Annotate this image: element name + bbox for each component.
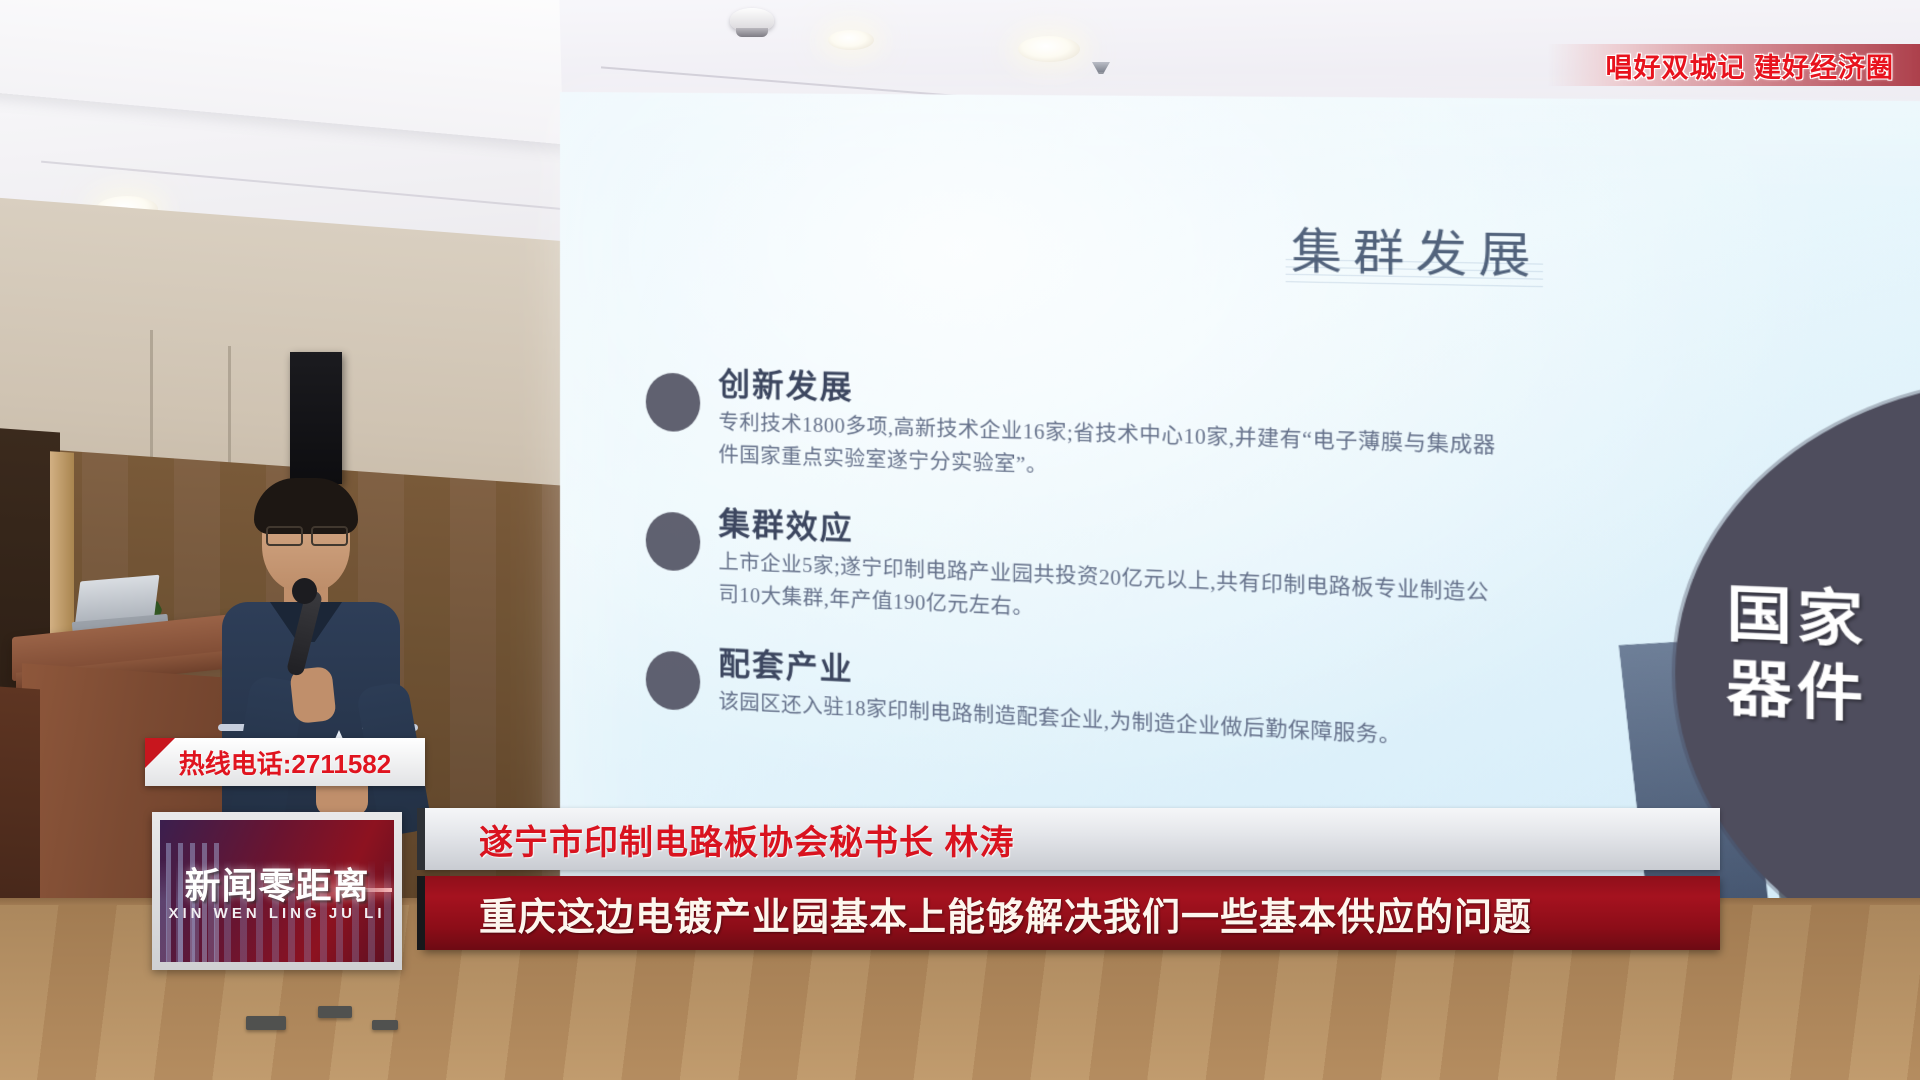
smoke-detector-icon [730, 8, 774, 32]
floor-object [318, 1006, 352, 1018]
microphone-head [292, 578, 317, 604]
program-logo-art: 新闻零距离 XIN WEN LING JU LI [160, 820, 394, 962]
top-right-slogan-banner: 唱好双城记 建好经济圈 [1548, 44, 1920, 86]
hotline-corner-accent [145, 738, 175, 768]
slogan-text: 唱好双城记 建好经济圈 [1605, 46, 1894, 85]
subtitle-text: 重庆这边电镀产业园基本上能够解决我们一些基本供应的问题 [479, 886, 1532, 941]
slide-title: 集群发展 [1291, 213, 1542, 287]
podium-side [0, 687, 40, 920]
hotline-text: 热线电话:2711582 [179, 744, 391, 781]
floor-object [372, 1020, 398, 1030]
slide-bullet-list: 创新发展 专利技术1800多项,高新技术企业16家;省技术中心10家,并建有“电… [590, 355, 1503, 788]
ceiling-downlight [828, 30, 874, 50]
slide-bullet-item: 创新发展 专利技术1800多项,高新技术企业16家;省技术中心10家,并建有“电… [590, 355, 1503, 498]
program-name-cn: 新闻零距离 [160, 857, 394, 909]
program-name-pinyin: XIN WEN LING JU LI [160, 905, 394, 922]
slide-callout-text: 国家 器件 [1726, 577, 1867, 732]
ceiling-downlight [1018, 36, 1080, 62]
hotline-box[interactable]: 热线电话:2711582 [145, 738, 425, 786]
slide-bullet-item: 配套产业 该园区还入驻18家印制电路制造配套企业,为制造企业做后勤保障服务。 [590, 632, 1503, 760]
program-logo: 新闻零距离 XIN WEN LING JU LI [152, 812, 402, 970]
bullet-dot-icon [646, 511, 700, 572]
glasses-icon [266, 526, 348, 542]
slide-callout-line1: 国家 [1726, 577, 1867, 657]
slide-callout-line2: 器件 [1726, 651, 1867, 732]
speaker-name-bar: 遂宁市印制电路板协会秘书长 林涛 [423, 808, 1720, 870]
bullet-dot-icon [646, 372, 700, 432]
subtitle-bar: 重庆这边电镀产业园基本上能够解决我们一些基本供应的问题 [423, 876, 1720, 950]
broadcast-screen: 国家 器件 集群发展 创新发展 专利技术1800多项,高新技术企业16家;省技术… [0, 0, 1920, 1080]
speaker-name-text: 遂宁市印制电路板协会秘书长 林涛 [479, 815, 1014, 864]
floor-object [246, 1016, 286, 1030]
loudspeaker [290, 352, 342, 484]
slide-bullet-item: 集群效应 上市企业5家;遂宁印制电路产业园共投资20亿元以上,共有印制电路板专业… [590, 493, 1503, 646]
bullet-dot-icon [646, 650, 700, 711]
